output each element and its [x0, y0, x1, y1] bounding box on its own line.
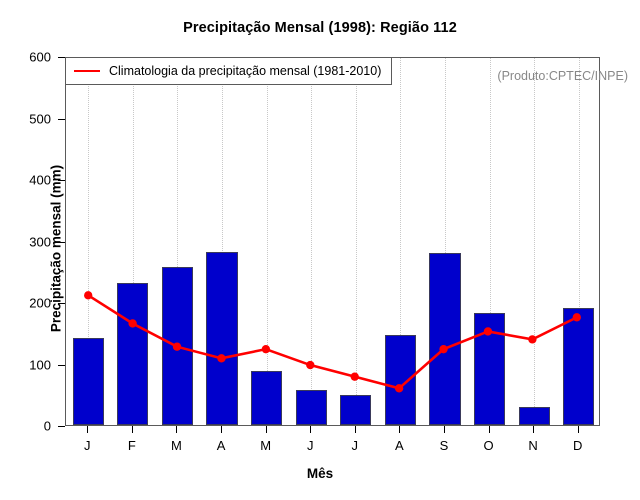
gridline-vertical	[311, 58, 312, 425]
x-tick-label: J	[84, 438, 91, 453]
plot-inner	[66, 58, 599, 425]
y-tick-label: 100	[9, 357, 51, 372]
precipitation-chart: Precipitação Mensal (1998): Região 112 0…	[0, 0, 640, 500]
x-tick-label: F	[128, 438, 136, 453]
bar-j-6	[340, 395, 371, 425]
y-tick-label: 500	[9, 111, 51, 126]
bar-m-2	[162, 267, 193, 425]
y-tick-label: 600	[9, 50, 51, 65]
chart-title: Precipitação Mensal (1998): Região 112	[0, 20, 640, 36]
legend-entry-label: Climatologia da precipitação mensal (198…	[109, 64, 381, 78]
x-tick-label: J	[352, 438, 359, 453]
y-axis-label: Precipitação mensal (mm)	[49, 119, 64, 379]
x-tick-mark	[489, 426, 490, 433]
bar-a-3	[206, 252, 237, 425]
x-tick-mark	[266, 426, 267, 433]
gridline-vertical	[534, 58, 535, 425]
bar-o-9	[474, 313, 505, 425]
x-tick-mark	[533, 426, 534, 433]
bar-f-1	[117, 283, 148, 425]
bar-m-4	[251, 371, 282, 425]
y-tick-label: 300	[9, 234, 51, 249]
bar-j-0	[73, 338, 104, 425]
x-tick-label: M	[171, 438, 182, 453]
x-tick-mark	[176, 426, 177, 433]
x-tick-mark	[132, 426, 133, 433]
x-tick-label: A	[395, 438, 404, 453]
plot-area	[65, 57, 600, 426]
chart-legend: Climatologia da precipitação mensal (198…	[65, 57, 392, 85]
x-tick-mark	[444, 426, 445, 433]
y-tick-label: 400	[9, 173, 51, 188]
x-tick-label: N	[528, 438, 537, 453]
x-tick-mark	[578, 426, 579, 433]
x-tick-mark	[87, 426, 88, 433]
bar-d-11	[563, 308, 594, 425]
gridline-vertical	[356, 58, 357, 425]
x-tick-mark	[221, 426, 222, 433]
x-tick-label: D	[573, 438, 582, 453]
x-tick-label: M	[260, 438, 271, 453]
bar-j-5	[296, 390, 327, 425]
y-tick-label: 200	[9, 296, 51, 311]
bar-s-8	[429, 253, 460, 425]
x-tick-label: S	[440, 438, 449, 453]
x-axis-label: Mês	[0, 466, 640, 481]
legend-line-swatch-icon	[74, 70, 100, 72]
x-tick-label: A	[217, 438, 226, 453]
x-tick-label: J	[307, 438, 314, 453]
bar-n-10	[519, 407, 550, 425]
x-tick-mark	[355, 426, 356, 433]
source-annotation: (Produto:CPTEC/INPE)	[497, 69, 628, 83]
y-tick-label: 0	[9, 419, 51, 434]
x-tick-label: O	[483, 438, 493, 453]
y-tick-mark	[58, 57, 65, 58]
x-tick-mark	[310, 426, 311, 433]
bar-a-7	[385, 335, 416, 425]
x-tick-mark	[399, 426, 400, 433]
y-tick-mark	[58, 426, 65, 427]
